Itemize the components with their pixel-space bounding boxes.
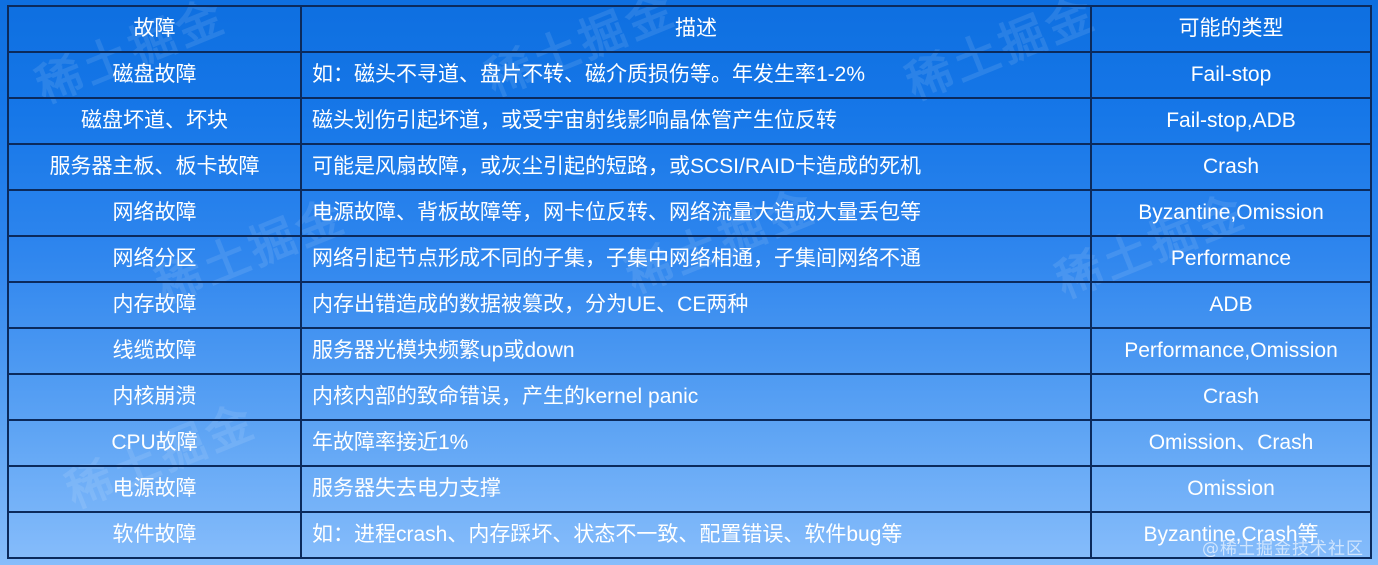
table-row: 磁盘坏道、坏块 磁头划伤引起坏道，或受宇宙射线影响晶体管产生位反转 Fail-s… <box>8 98 1371 144</box>
cell-fault: 电源故障 <box>8 466 301 512</box>
cell-type: Omission <box>1091 466 1371 512</box>
cell-description: 如：磁头不寻道、盘片不转、磁介质损伤等。年发生率1-2% <box>301 52 1091 98</box>
table-row: 内核崩溃 内核内部的致命错误，产生的kernel panic Crash <box>8 374 1371 420</box>
table-row: 磁盘故障 如：磁头不寻道、盘片不转、磁介质损伤等。年发生率1-2% Fail-s… <box>8 52 1371 98</box>
cell-description: 可能是风扇故障，或灰尘引起的短路，或SCSI/RAID卡造成的死机 <box>301 144 1091 190</box>
cell-fault: 网络故障 <box>8 190 301 236</box>
cell-description: 电源故障、背板故障等，网卡位反转、网络流量大造成大量丢包等 <box>301 190 1091 236</box>
cell-fault: CPU故障 <box>8 420 301 466</box>
cell-fault: 磁盘坏道、坏块 <box>8 98 301 144</box>
cell-description: 服务器失去电力支撑 <box>301 466 1091 512</box>
table-row: 服务器主板、板卡故障 可能是风扇故障，或灰尘引起的短路，或SCSI/RAID卡造… <box>8 144 1371 190</box>
cell-fault: 内核崩溃 <box>8 374 301 420</box>
table-row: CPU故障 年故障率接近1% Omission、Crash <box>8 420 1371 466</box>
table-row: 电源故障 服务器失去电力支撑 Omission <box>8 466 1371 512</box>
table-header-row: 故障 描述 可能的类型 <box>8 6 1371 52</box>
table-row: 网络故障 电源故障、背板故障等，网卡位反转、网络流量大造成大量丢包等 Byzan… <box>8 190 1371 236</box>
cell-type: Fail-stop,ADB <box>1091 98 1371 144</box>
table-body: 故障 描述 可能的类型 磁盘故障 如：磁头不寻道、盘片不转、磁介质损伤等。年发生… <box>8 6 1371 558</box>
column-header-description: 描述 <box>301 6 1091 52</box>
cell-description: 服务器光模块频繁up或down <box>301 328 1091 374</box>
cell-fault: 线缆故障 <box>8 328 301 374</box>
cell-description: 磁头划伤引起坏道，或受宇宙射线影响晶体管产生位反转 <box>301 98 1091 144</box>
cell-description: 内核内部的致命错误，产生的kernel panic <box>301 374 1091 420</box>
cell-description: 网络引起节点形成不同的子集，子集中网络相通，子集间网络不通 <box>301 236 1091 282</box>
cell-type: Byzantine,Crash等 <box>1091 512 1371 558</box>
column-header-fault: 故障 <box>8 6 301 52</box>
column-header-type: 可能的类型 <box>1091 6 1371 52</box>
cell-type: Fail-stop <box>1091 52 1371 98</box>
cell-fault: 磁盘故障 <box>8 52 301 98</box>
cell-description: 年故障率接近1% <box>301 420 1091 466</box>
cell-type: Byzantine,Omission <box>1091 190 1371 236</box>
table-row: 内存故障 内存出错造成的数据被篡改，分为UE、CE两种 ADB <box>8 282 1371 328</box>
cell-fault: 服务器主板、板卡故障 <box>8 144 301 190</box>
table-row: 网络分区 网络引起节点形成不同的子集，子集中网络相通，子集间网络不通 Perfo… <box>8 236 1371 282</box>
cell-description: 如：进程crash、内存踩坏、状态不一致、配置错误、软件bug等 <box>301 512 1091 558</box>
fault-type-table: 故障 描述 可能的类型 磁盘故障 如：磁头不寻道、盘片不转、磁介质损伤等。年发生… <box>7 5 1372 559</box>
table-row: 线缆故障 服务器光模块频繁up或down Performance,Omissio… <box>8 328 1371 374</box>
cell-type: ADB <box>1091 282 1371 328</box>
cell-type: Performance,Omission <box>1091 328 1371 374</box>
cell-fault: 网络分区 <box>8 236 301 282</box>
cell-type: Crash <box>1091 144 1371 190</box>
table-row: 软件故障 如：进程crash、内存踩坏、状态不一致、配置错误、软件bug等 By… <box>8 512 1371 558</box>
cell-fault: 软件故障 <box>8 512 301 558</box>
fault-table-container: 故障 描述 可能的类型 磁盘故障 如：磁头不寻道、盘片不转、磁介质损伤等。年发生… <box>7 5 1370 560</box>
cell-type: Omission、Crash <box>1091 420 1371 466</box>
cell-type: Performance <box>1091 236 1371 282</box>
cell-description: 内存出错造成的数据被篡改，分为UE、CE两种 <box>301 282 1091 328</box>
cell-type: Crash <box>1091 374 1371 420</box>
cell-fault: 内存故障 <box>8 282 301 328</box>
